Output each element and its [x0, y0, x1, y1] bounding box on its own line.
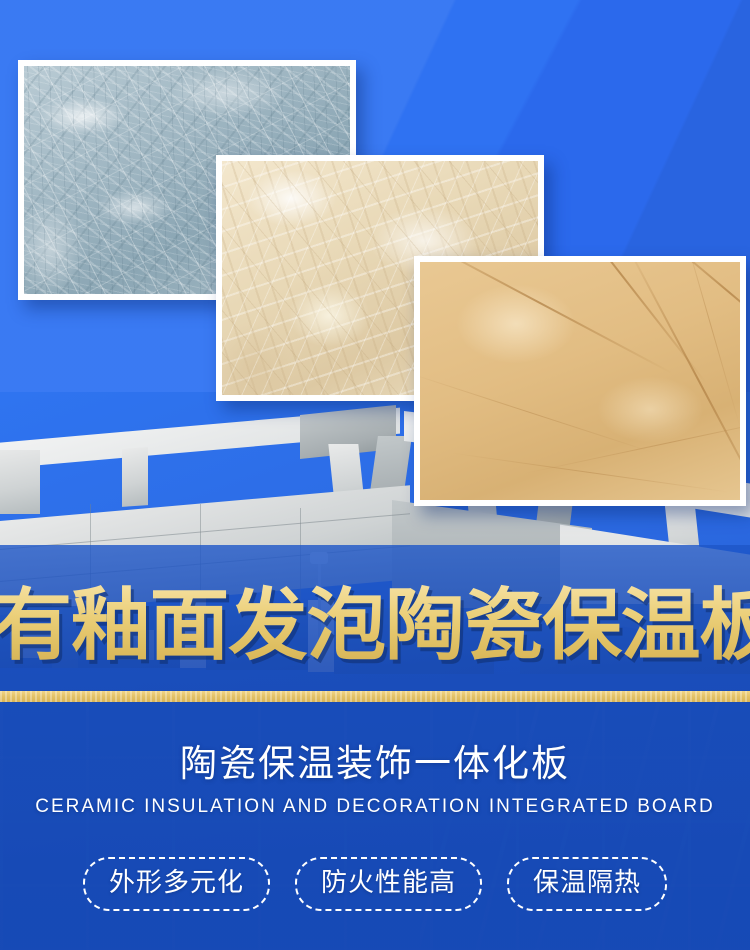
marble-vein — [414, 256, 673, 374]
feature-badge-fire-resistance[interactable]: 防火性能高 — [295, 857, 482, 911]
tile-texture — [420, 262, 740, 500]
page-title: 有釉面发泡陶瓷保温板 — [0, 584, 750, 668]
feature-badge-list: 外形多元化 防火性能高 保温隔热 — [0, 857, 750, 911]
feature-badge-shape-variety[interactable]: 外形多元化 — [83, 857, 270, 911]
marble-vein — [414, 372, 654, 453]
marble-vein — [624, 256, 746, 506]
subtitle-chinese: 陶瓷保温装饰一体化板 — [0, 742, 750, 786]
marble-vein — [533, 256, 707, 384]
gold-divider — [0, 691, 750, 702]
facade-column — [0, 450, 40, 514]
blue-overlay-wash-lower — [0, 690, 750, 950]
facade-column — [122, 447, 148, 507]
tan-marble-tile[interactable] — [414, 256, 746, 506]
product-poster: 有釉面发泡陶瓷保温板 陶瓷保温装饰一体化板 CERAMIC INSULATION… — [0, 0, 750, 950]
feature-badge-thermal-insulation[interactable]: 保温隔热 — [507, 857, 667, 911]
marble-vein — [653, 256, 746, 358]
subtitle-english: CERAMIC INSULATION AND DECORATION INTEGR… — [0, 795, 750, 819]
